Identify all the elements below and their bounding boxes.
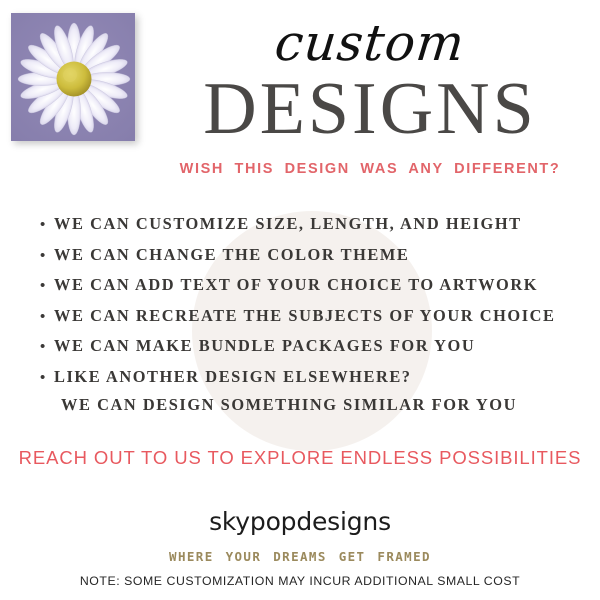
bullet-dot-icon: • — [40, 339, 54, 354]
list-item-continuation: WE CAN DESIGN SOMETHING SIMILAR FOR YOU — [40, 395, 580, 415]
bullet-dot-icon: • — [40, 217, 54, 232]
promo-poster: custom DESIGNS WISH THIS DESIGN WAS ANY … — [0, 0, 600, 600]
list-item-label: LIKE ANOTHER DESIGN ELSEWHERE? — [54, 367, 412, 387]
list-item-label: WE CAN CUSTOMIZE SIZE, LENGTH, AND HEIGH… — [54, 214, 522, 234]
list-item-label: WE CAN MAKE BUNDLE PACKAGES FOR YOU — [54, 336, 475, 356]
list-item-label: WE CAN CHANGE THE COLOR THEME — [54, 245, 409, 265]
list-item-label: WE CAN RECREATE THE SUBJECTS OF YOUR CHO… — [54, 306, 556, 326]
list-item: • WE CAN MAKE BUNDLE PACKAGES FOR YOU — [40, 336, 580, 356]
brand-tagline: WHERE YOUR DREAMS GET FRAMED — [0, 549, 600, 564]
headline-display-word: DESIGNS — [150, 72, 590, 147]
list-item: • WE CAN RECREATE THE SUBJECTS OF YOUR C… — [40, 306, 580, 326]
call-to-action-text: REACH OUT TO US TO EXPLORE ENDLESS POSSI… — [0, 447, 600, 469]
brand-name: skypopdesigns — [0, 507, 600, 536]
feature-bullet-list: • WE CAN CUSTOMIZE SIZE, LENGTH, AND HEI… — [40, 214, 580, 426]
bullet-dot-icon: • — [40, 248, 54, 263]
footer-note: NOTE: SOME CUSTOMIZATION MAY INCUR ADDIT… — [0, 574, 600, 588]
headline-subhead: WISH THIS DESIGN WAS ANY DIFFERENT? — [150, 161, 590, 177]
list-item: • WE CAN CUSTOMIZE SIZE, LENGTH, AND HEI… — [40, 214, 580, 234]
bullet-dot-icon: • — [40, 309, 54, 324]
daisy-flower-artwork — [11, 13, 135, 141]
bullet-dot-icon: • — [40, 278, 54, 293]
bullet-dot-icon: • — [40, 370, 54, 385]
headline-script-word: custom — [147, 18, 592, 68]
list-item-label: WE CAN ADD TEXT OF YOUR CHOICE TO ARTWOR… — [54, 275, 538, 295]
list-item: • WE CAN CHANGE THE COLOR THEME — [40, 245, 580, 265]
list-item: • WE CAN ADD TEXT OF YOUR CHOICE TO ARTW… — [40, 275, 580, 295]
headline-block: custom DESIGNS WISH THIS DESIGN WAS ANY … — [150, 18, 590, 177]
list-item-label: WE CAN DESIGN SOMETHING SIMILAR FOR YOU — [54, 395, 517, 415]
list-item: • LIKE ANOTHER DESIGN ELSEWHERE? — [40, 367, 580, 387]
